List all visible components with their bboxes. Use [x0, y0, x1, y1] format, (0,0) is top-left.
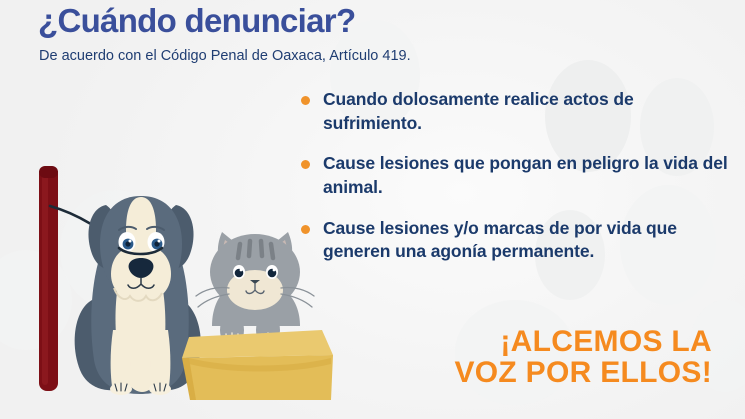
list-item-text: Cause lesiones que pongan en peligro la …: [323, 153, 728, 197]
list-item: Cuando dolosamente realice actos de sufr…: [301, 88, 731, 135]
leash-line: [50, 206, 124, 250]
bullet-dot-icon: [301, 160, 310, 169]
cta-line-1: ¡ALCEMOS LA: [454, 327, 712, 358]
page-subtitle: De acuerdo con el Código Penal de Oaxaca…: [39, 48, 411, 64]
page-title: ¿Cuándo denunciar?: [38, 2, 355, 40]
list-item: Cause lesiones que pongan en peligro la …: [301, 152, 731, 199]
cat-figure: [196, 232, 314, 326]
list-item: Cause lesiones y/o marcas de por vida qu…: [301, 217, 731, 264]
poster-canvas: ¿Cuándo denunciar? De acuerdo con el Cód…: [0, 0, 745, 419]
cardboard-box: [182, 330, 333, 400]
bullet-list: Cuando dolosamente realice actos de sufr…: [301, 88, 731, 281]
cta-line-2: VOZ POR ELLOS!: [454, 358, 712, 389]
dog-figure: [75, 196, 201, 395]
call-to-action: ¡ALCEMOS LA VOZ POR ELLOS!: [454, 327, 712, 389]
bullet-dot-icon: [301, 225, 310, 234]
paw-blob-icon: [60, 190, 170, 310]
cat-paws: [220, 313, 280, 347]
list-item-text: Cuando dolosamente realice actos de sufr…: [323, 89, 634, 133]
red-pole: [39, 166, 58, 391]
paw-blob-icon: [0, 250, 72, 350]
list-item-text: Cause lesiones y/o marcas de por vida qu…: [323, 218, 677, 262]
bullet-dot-icon: [301, 96, 310, 105]
